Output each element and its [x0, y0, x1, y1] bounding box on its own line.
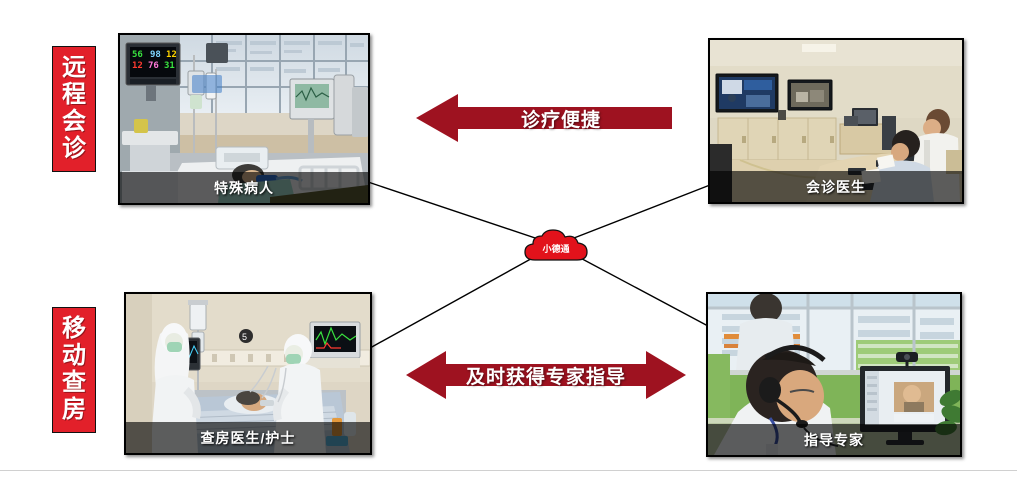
banner-char: 程 — [62, 82, 86, 109]
svg-text:12: 12 — [132, 61, 143, 71]
svg-text:76: 76 — [148, 61, 159, 71]
diagram-canvas: 远 程 会 诊 移 动 查 房 — [0, 0, 1017, 477]
svg-text:12: 12 — [166, 50, 177, 60]
photo-caption: 指导专家 — [708, 424, 960, 455]
photo-caption: 会诊医生 — [710, 171, 962, 202]
photo-card-consulting-doctor[interactable]: 会诊医生 — [708, 38, 964, 204]
svg-text:31: 31 — [164, 61, 175, 71]
cloud-icon — [519, 226, 593, 264]
bottom-divider — [0, 470, 1017, 471]
svg-text:98: 98 — [150, 50, 161, 60]
banner-remote-consultation: 远 程 会 诊 — [52, 46, 96, 172]
svg-text:5: 5 — [242, 332, 247, 342]
photo-card-rounds-staff[interactable]: 5 — [124, 292, 372, 455]
banner-char: 移 — [62, 316, 86, 343]
photo-caption: 特殊病人 — [120, 172, 368, 203]
banner-char: 房 — [62, 397, 86, 424]
banner-char: 诊 — [62, 136, 86, 163]
banner-char: 远 — [62, 55, 86, 82]
banner-char: 查 — [62, 370, 86, 397]
arrow-expert-guidance: 及时获得专家指导 — [406, 349, 686, 401]
photo-card-special-patient[interactable]: 56 98 12 12 76 31 — [118, 33, 370, 205]
banner-mobile-rounds: 移 动 查 房 — [52, 307, 96, 433]
cloud-node[interactable]: 小德通 — [519, 226, 593, 264]
photo-caption: 查房医生/护士 — [126, 422, 370, 453]
arrow-left-shape — [416, 92, 672, 144]
banner-char: 动 — [62, 343, 86, 370]
arrow-diagnosis-convenient: 诊疗便捷 — [416, 92, 672, 144]
photo-card-guiding-expert[interactable]: 指导专家 — [706, 292, 962, 457]
svg-text:56: 56 — [132, 50, 143, 60]
arrow-double-shape — [406, 349, 686, 401]
banner-char: 会 — [62, 109, 86, 136]
